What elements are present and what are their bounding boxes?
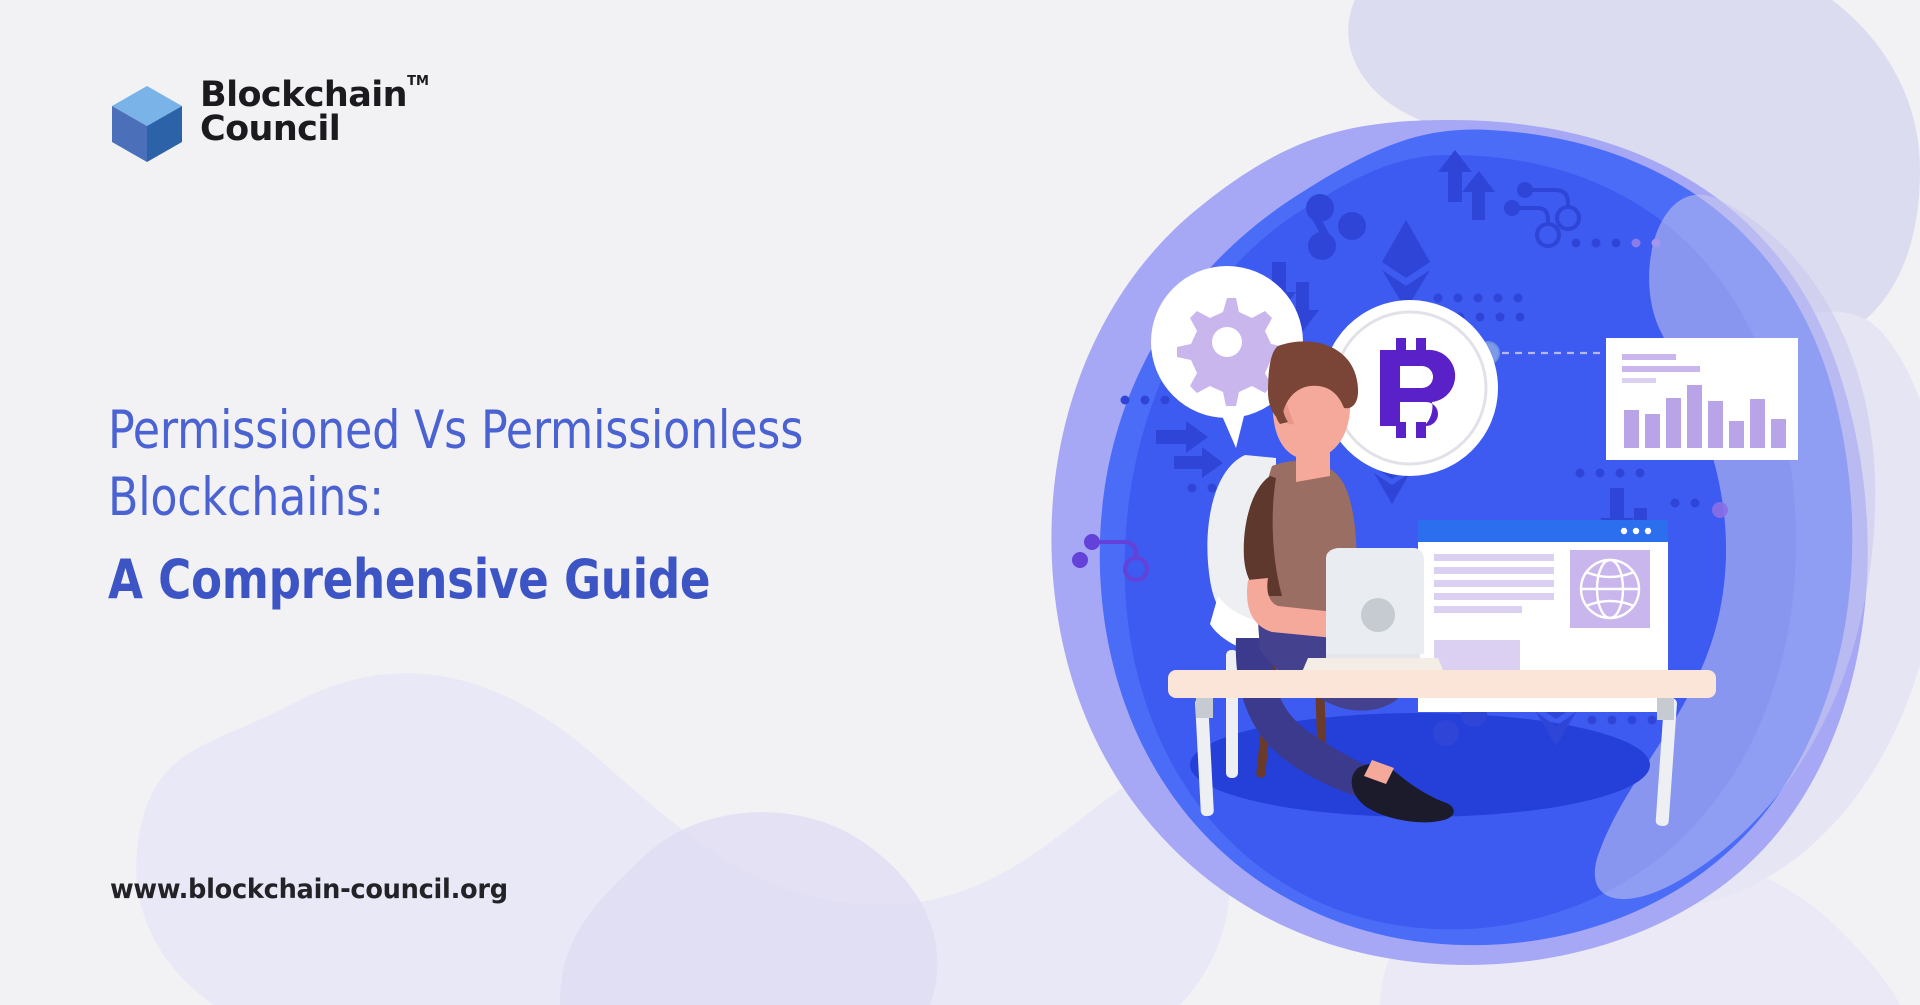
chart-bar: [1645, 414, 1660, 448]
chart-bar: [1708, 401, 1723, 448]
title-line-2: Blockchains:: [108, 465, 945, 532]
chart-bar: [1687, 385, 1702, 448]
chart-bar: [1729, 421, 1744, 448]
desk-leg-left-joint: [1196, 698, 1213, 718]
page-title: Permissioned Vs Permissionless Blockchai…: [108, 398, 1008, 613]
chart-header-line-3: [1622, 378, 1656, 383]
chart-bar: [1666, 398, 1681, 448]
brand-logo[interactable]: Blockchain Council TM: [110, 78, 407, 164]
bar-chart-card: [1606, 338, 1798, 460]
browser-title-bar: [1418, 520, 1668, 542]
site-url[interactable]: www.blockchain-council.org: [110, 874, 508, 905]
laptop-logo: [1361, 598, 1395, 632]
circuit-node-icon-right: [1714, 504, 1726, 516]
chart-bar: [1750, 399, 1765, 448]
desk-top: [1168, 670, 1716, 698]
chair-leg-front: [1226, 650, 1238, 778]
hero-illustration: [1020, 110, 1920, 1005]
poster-canvas: Blockchain Council TM Permissioned Vs Pe…: [0, 0, 1920, 1005]
chart-bar: [1624, 410, 1639, 448]
chart-header-line-1: [1622, 354, 1676, 360]
window-control-dots: [1621, 528, 1651, 534]
laptop-base: [1302, 658, 1444, 672]
trademark-mark: TM: [407, 74, 429, 89]
logo-wordmark: Blockchain Council TM: [200, 78, 407, 147]
title-line-3: A Comprehensive Guide: [108, 546, 945, 614]
blockchain-cube-icon: [110, 84, 184, 164]
logo-line-2: Council: [200, 112, 407, 146]
logo-line-1: Blockchain: [200, 78, 407, 112]
title-line-1: Permissioned Vs Permissionless: [108, 398, 945, 465]
desk-leg-right-joint: [1657, 698, 1674, 720]
chart-bar: [1771, 419, 1786, 448]
chart-header-line-2: [1622, 366, 1700, 372]
